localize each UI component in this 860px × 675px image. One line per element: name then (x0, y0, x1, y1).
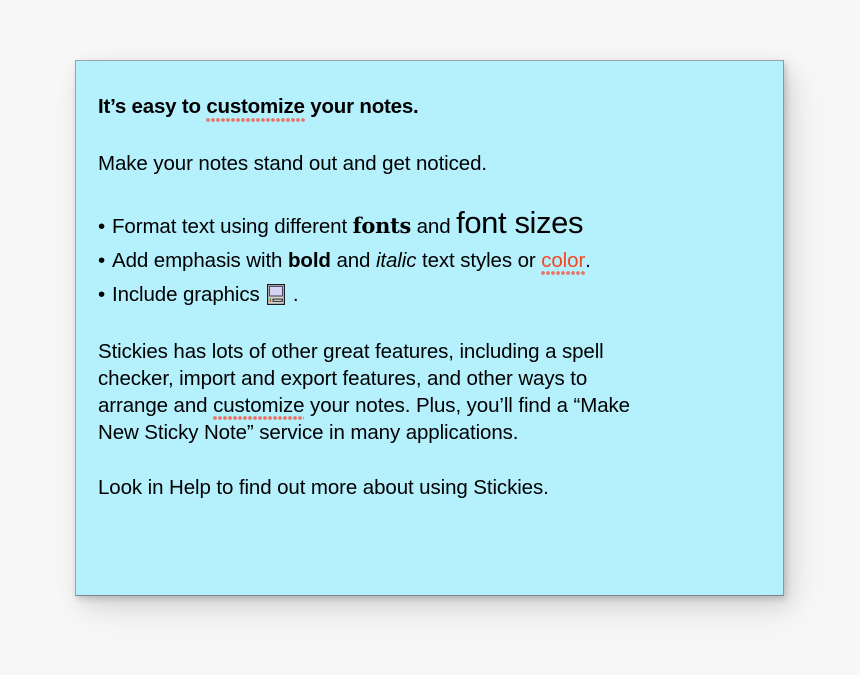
features-line-2: checker, import and export features, and… (98, 367, 587, 390)
sticky-note-window[interactable]: It’s easy to customize your notes. Make … (75, 60, 784, 596)
spacer (98, 119, 767, 150)
bullet-2-italic-sample: italic (376, 249, 416, 272)
closing-paragraph: Look in Help to find out more about usin… (98, 474, 767, 501)
features-misspelled-word: customize (213, 394, 304, 417)
note-title: It’s easy to customize your notes. (98, 95, 767, 119)
features-line-3-suffix: your notes. Plus, you’ll find a “Make (304, 394, 630, 417)
bullet-2-segment-7: . (585, 249, 591, 272)
features-line-4: New Sticky Note” service in many applica… (98, 421, 518, 444)
features-paragraph: Stickies has lots of other great feature… (98, 338, 767, 446)
bullet-marker-icon: • (98, 244, 112, 278)
bullet-2-color-sample: color (541, 249, 585, 272)
bullet-2-segment-3: and (331, 249, 376, 272)
features-line-3-prefix: arrange and (98, 394, 213, 417)
bullet-item-graphics: •Include graphics . (98, 278, 767, 312)
bullet-item-fonts: •Format text using different fonts and f… (98, 205, 767, 244)
bullet-1-fonts-sample: fonts (353, 213, 411, 238)
page-root: It’s easy to customize your notes. Make … (0, 0, 860, 675)
bullet-marker-icon: • (98, 209, 112, 244)
bullet-2-segment-1: Add emphasis with (112, 249, 288, 272)
bullet-3-segment-1: Include graphics (112, 283, 265, 306)
mac-computer-icon (267, 282, 285, 303)
note-title-suffix: your notes. (305, 95, 419, 118)
bullet-1-segment-3: and (411, 215, 456, 238)
bullet-2-bold-sample: bold (288, 249, 331, 272)
bullet-2-segment-5: text styles or (416, 249, 541, 272)
bullet-item-emphasis: •Add emphasis with bold and italic text … (98, 244, 767, 278)
features-line-1: Stickies has lots of other great feature… (98, 340, 604, 363)
note-content-area[interactable]: It’s easy to customize your notes. Make … (98, 95, 767, 501)
intro-paragraph: Make your notes stand out and get notice… (98, 150, 767, 177)
spacer (98, 312, 767, 338)
note-title-misspelled-word: customize (206, 95, 304, 118)
bullet-1-segment-1: Format text using different (112, 215, 353, 238)
bullet-1-font-sizes-sample: font sizes (456, 205, 583, 240)
bullet-marker-icon: • (98, 278, 112, 312)
bullet-3-segment-3: . (287, 283, 298, 306)
spacer (98, 446, 767, 474)
note-title-prefix: It’s easy to (98, 95, 206, 118)
spacer (98, 177, 767, 205)
